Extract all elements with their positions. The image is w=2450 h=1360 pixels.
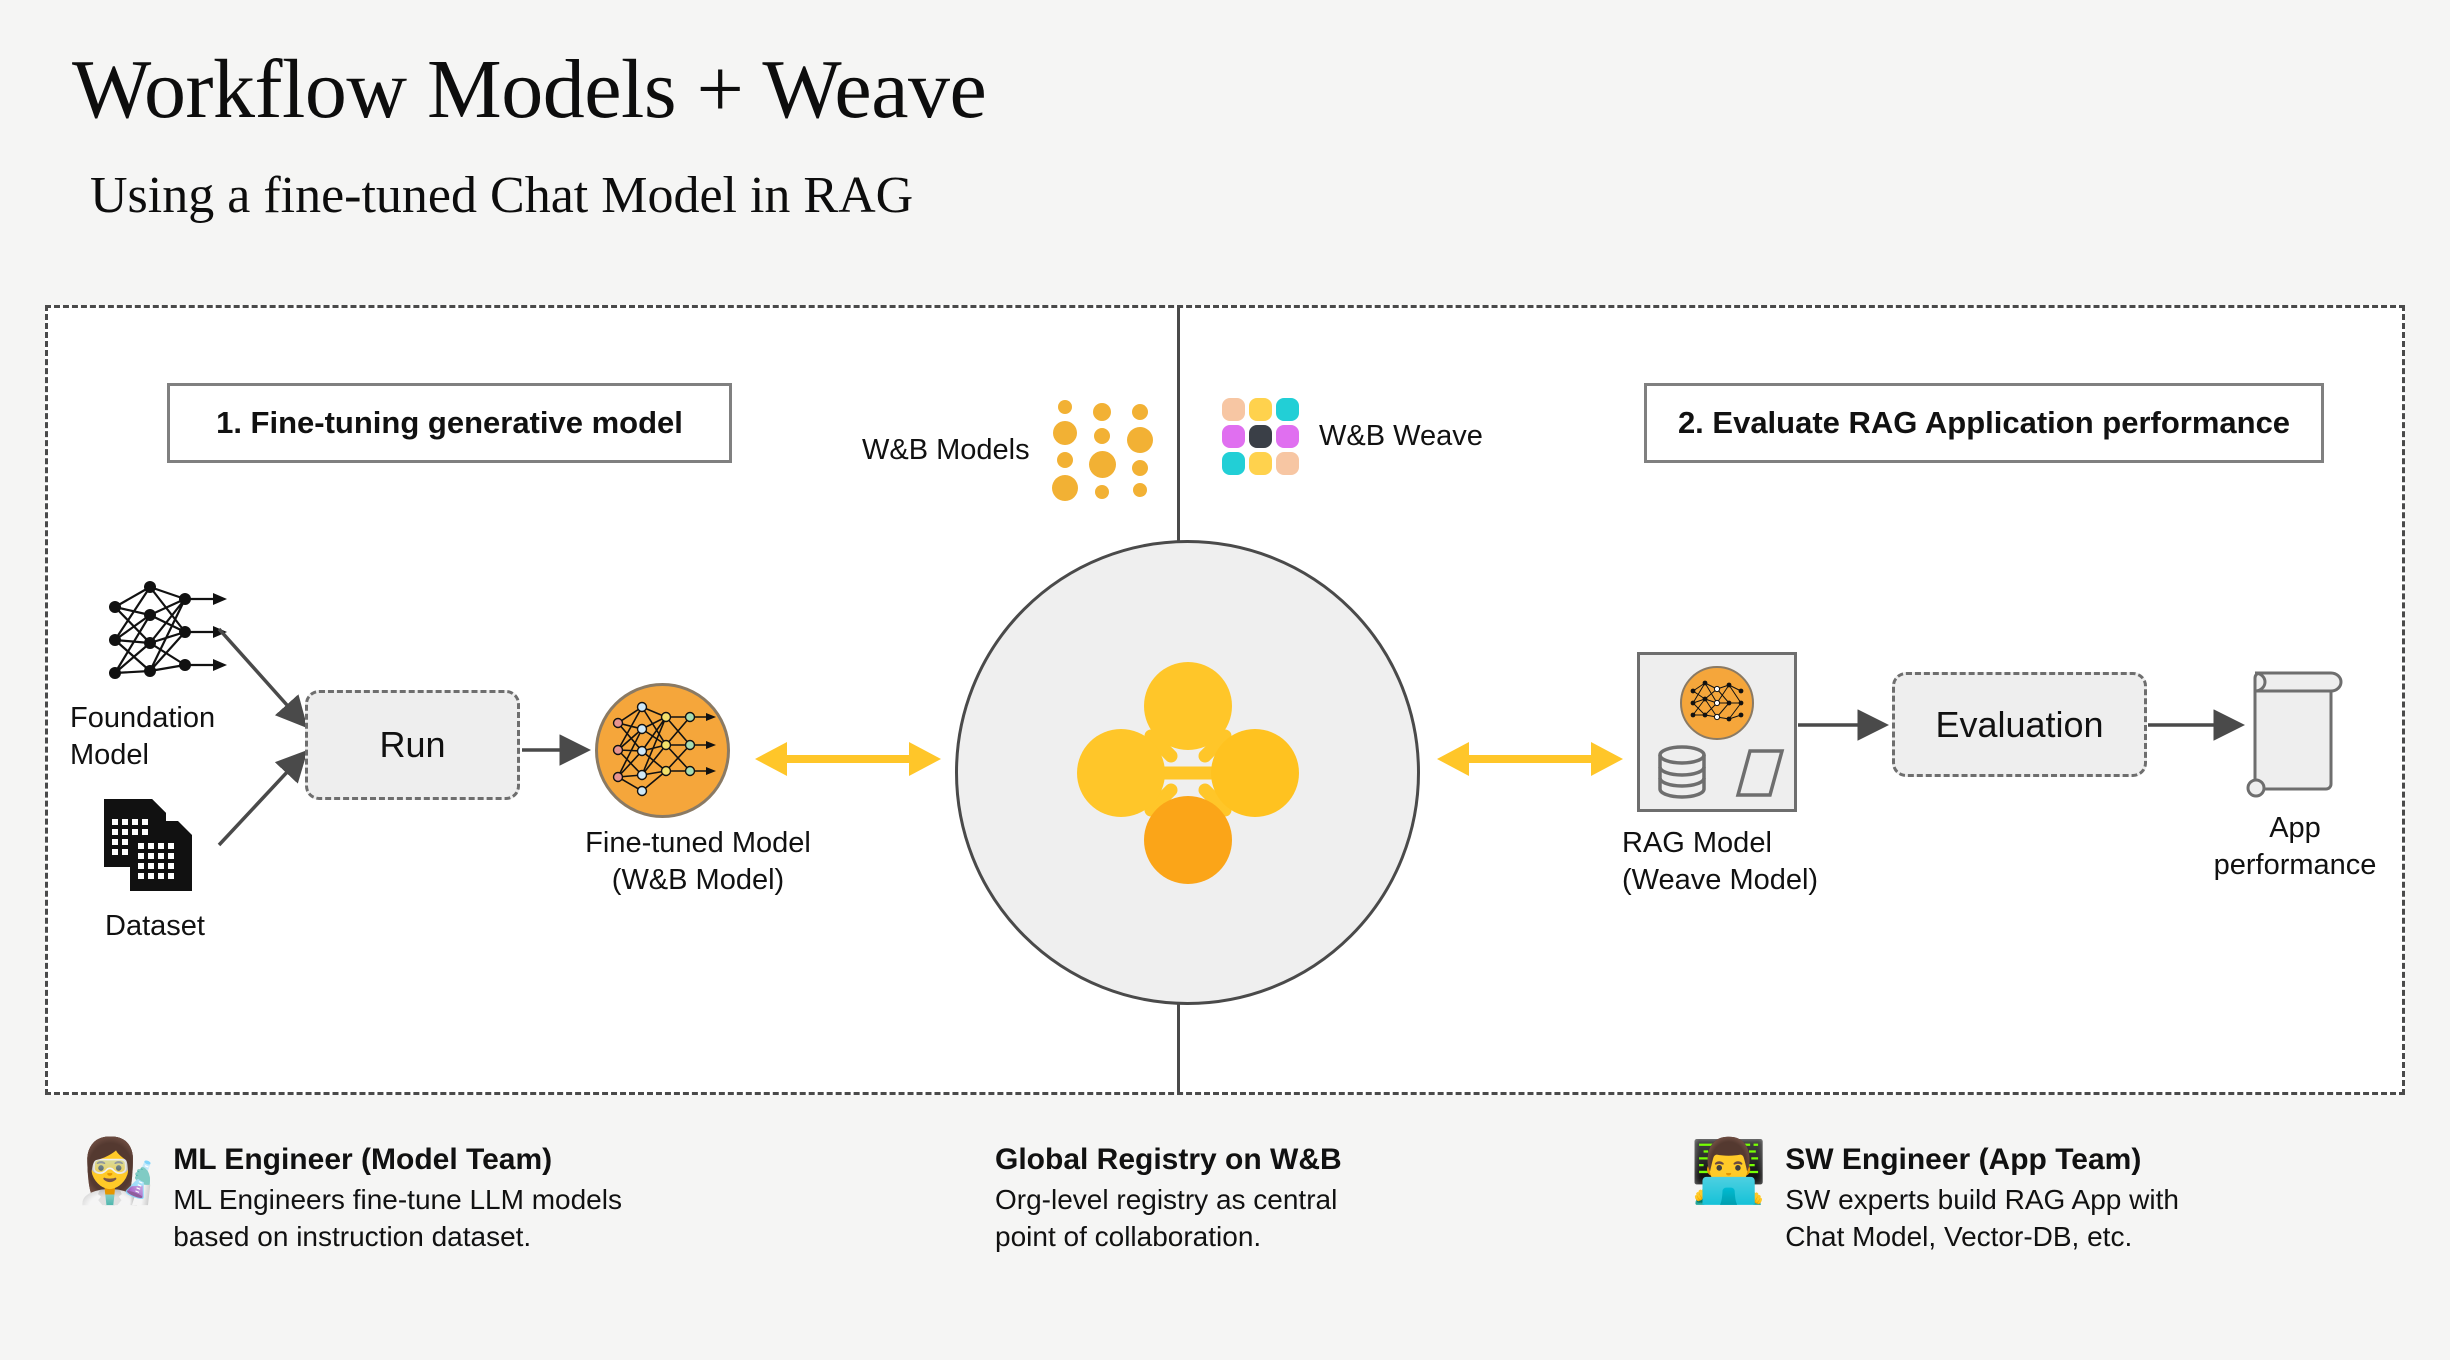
dataset-label: Dataset: [60, 908, 250, 945]
legend-global-registry: Global Registry on W&B Org-level registr…: [995, 1140, 1342, 1256]
rag-model-label: RAG Model (Weave Model): [1622, 825, 1902, 899]
scientist-emoji-icon: 👩‍🔬: [78, 1140, 155, 1202]
wb-models-brand: W&B Models: [862, 400, 1153, 501]
arrow-run-to-fine-tuned: [522, 730, 600, 770]
legend-global-registry-description: Org-level registry as central point of c…: [995, 1181, 1342, 1257]
page-title: Workflow Models + Weave: [72, 48, 986, 132]
legend-ml-engineer-title: ML Engineer (Model Team): [173, 1140, 622, 1181]
legend-sw-engineer-title: SW Engineer (App Team): [1785, 1140, 2179, 1181]
legend-sw-engineer: 👨‍💻 SW Engineer (App Team) SW experts bu…: [1690, 1140, 2179, 1256]
section-header-evaluate-rag: 2. Evaluate RAG Application performance: [1644, 383, 2324, 463]
wb-models-label: W&B Models: [862, 434, 1030, 467]
fine-tuned-model-icon: [595, 683, 730, 818]
wb-weave-brand: W&B Weave: [1222, 398, 1483, 475]
wb-models-dots-icon: [1052, 400, 1153, 501]
rag-model-box: [1637, 652, 1797, 812]
page-subtitle: Using a fine-tuned Chat Model in RAG: [90, 170, 913, 222]
dataset-icon: [100, 795, 210, 895]
diagram-canvas: Workflow Models + Weave Using a fine-tun…: [0, 0, 2450, 1360]
arrow-model-to-registry: [753, 735, 943, 783]
legend-sw-engineer-description: SW experts build RAG App with Chat Model…: [1785, 1181, 2179, 1257]
legend-ml-engineer: 👩‍🔬 ML Engineer (Model Team) ML Engineer…: [78, 1140, 622, 1256]
neural-network-icon: [95, 575, 235, 705]
arrow-evaluation-to-app-performance: [2148, 705, 2253, 745]
legend-global-registry-title: Global Registry on W&B: [995, 1140, 1342, 1181]
wb-weave-logo-icon: [1222, 398, 1299, 475]
arrow-rag-to-evaluation: [1798, 705, 1898, 745]
report-scroll-icon: [2243, 655, 2348, 800]
legend-ml-engineer-description: ML Engineers fine-tune LLM models based …: [173, 1181, 622, 1257]
technologist-emoji-icon: 👨‍💻: [1690, 1140, 1767, 1202]
run-box[interactable]: Run: [305, 690, 520, 800]
fine-tuned-model-label: Fine-tuned Model (W&B Model): [558, 825, 838, 899]
arrow-registry-to-rag: [1435, 735, 1625, 783]
global-registry-icon: [955, 540, 1420, 1005]
wb-weave-label: W&B Weave: [1319, 420, 1483, 453]
evaluation-box[interactable]: Evaluation: [1892, 672, 2147, 777]
section-header-fine-tuning: 1. Fine-tuning generative model: [167, 383, 732, 463]
app-performance-label: App performance: [2190, 810, 2400, 884]
